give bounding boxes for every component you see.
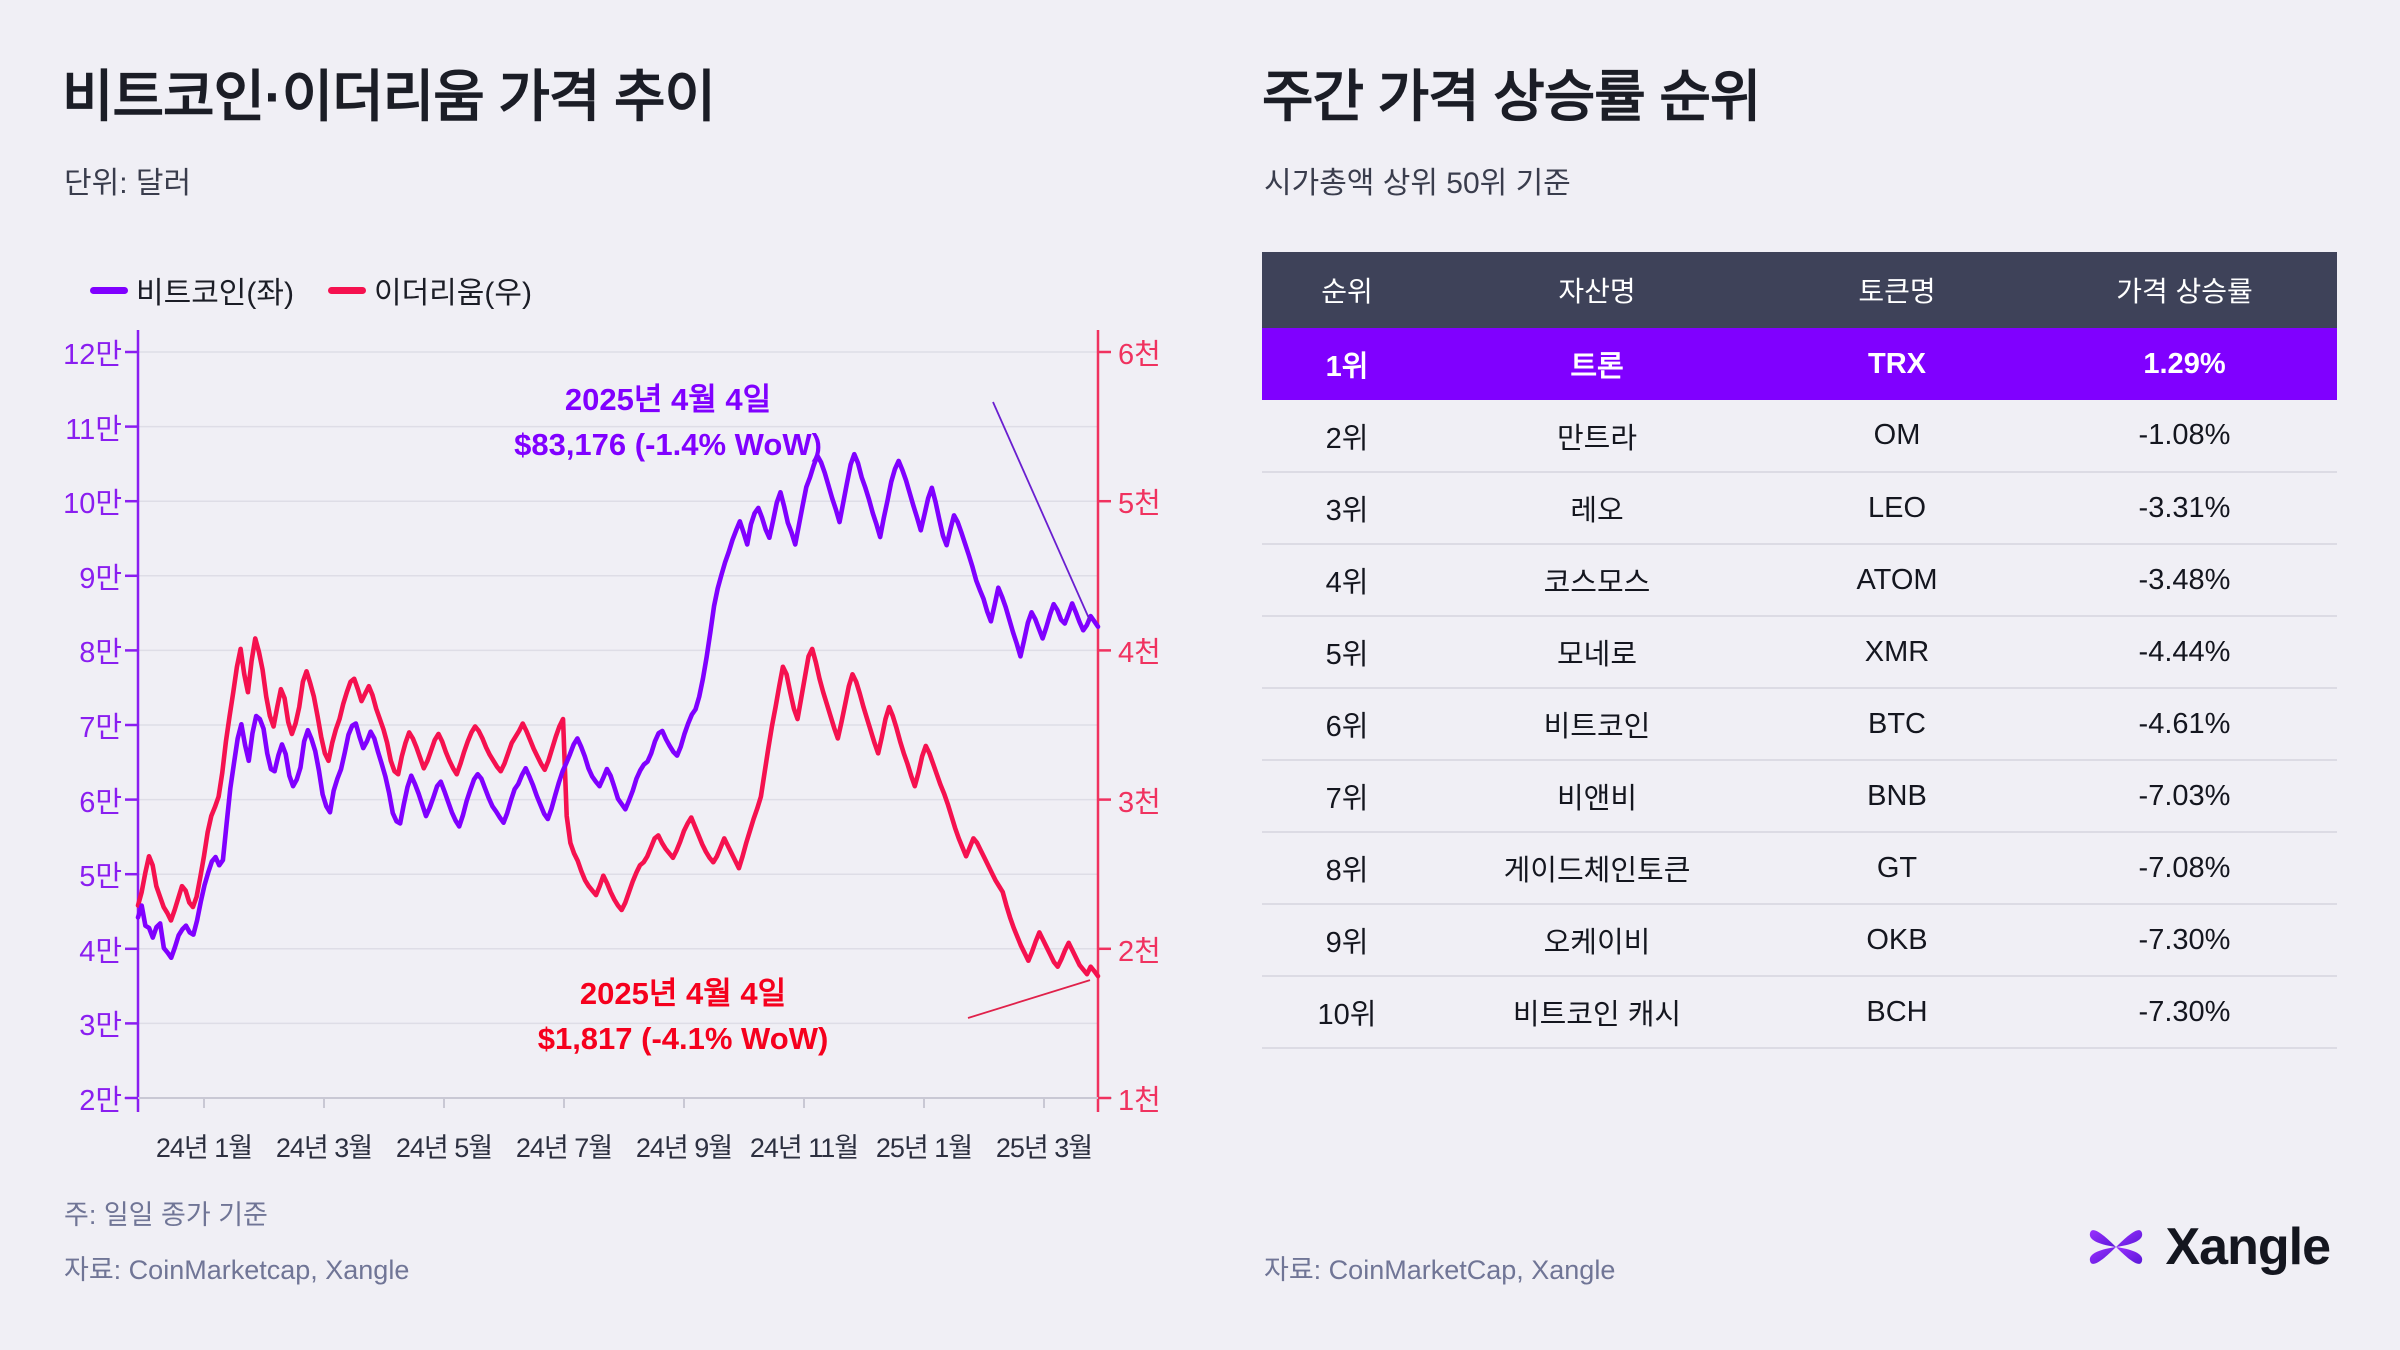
cell-asset: 비트코인 캐시 — [1432, 976, 1762, 1048]
y-tick-label-left: 10만 — [26, 480, 122, 522]
y-tick-label-left: 4만 — [26, 928, 122, 970]
ranking-panel: 주간 가격 상승률 순위 시가총액 상위 50위 기준 순위 자산명 토큰명 가… — [1200, 0, 2400, 1350]
annotation-eth-value: $1,817 (-4.1% WoW) — [538, 1021, 829, 1057]
table-row[interactable]: 8위게이드체인토큰GT-7.08% — [1262, 832, 2337, 904]
cell-asset: 모네로 — [1432, 616, 1762, 688]
table-row[interactable]: 2위만트라OM-1.08% — [1262, 400, 2337, 472]
x-tick-label: 24년 3월 — [276, 1126, 372, 1165]
annotation-btc: 2025년 4월 4일 $83,176 (-1.4% WoW) — [514, 374, 822, 463]
cell-change: -3.48% — [2032, 544, 2337, 616]
table-row[interactable]: 6위비트코인BTC-4.61% — [1262, 688, 2337, 760]
x-tick-label: 24년 9월 — [636, 1126, 732, 1165]
cell-change: -3.31% — [2032, 472, 2337, 544]
cell-rank: 6위 — [1262, 688, 1432, 760]
cell-change: -4.61% — [2032, 688, 2337, 760]
cell-rank: 10위 — [1262, 976, 1432, 1048]
xangle-logo: Xangle — [2084, 1215, 2331, 1279]
cell-rank: 1위 — [1262, 328, 1432, 400]
xangle-wordmark: Xangle — [2166, 1217, 2331, 1277]
cell-token: GT — [1762, 832, 2032, 904]
cell-rank: 5위 — [1262, 616, 1432, 688]
chart-note: 주: 일일 종가 기준 — [64, 1193, 268, 1232]
table-row[interactable]: 5위모네로XMR-4.44% — [1262, 616, 2337, 688]
cell-rank: 7위 — [1262, 760, 1432, 832]
y-tick-label-left: 11만 — [26, 406, 122, 448]
chart-source: 자료: CoinMarketcap, Xangle — [64, 1248, 409, 1287]
cell-token: BNB — [1762, 760, 2032, 832]
cell-token: LEO — [1762, 472, 2032, 544]
series-line-eth — [138, 638, 1098, 976]
cell-token: TRX — [1762, 328, 2032, 400]
table-row[interactable]: 1위트론TRX1.29% — [1262, 328, 2337, 400]
x-tick-label: 24년 5월 — [396, 1126, 492, 1165]
x-tick-label: 25년 3월 — [996, 1126, 1092, 1165]
cell-change: -7.08% — [2032, 832, 2337, 904]
cell-rank: 8위 — [1262, 832, 1432, 904]
column-header-asset: 자산명 — [1432, 252, 1762, 328]
table-header-row: 순위 자산명 토큰명 가격 상승률 — [1262, 252, 2337, 328]
ranking-source: 자료: CoinMarketCap, Xangle — [1264, 1248, 1615, 1287]
table-row[interactable]: 10위비트코인 캐시BCH-7.30% — [1262, 976, 2337, 1048]
cell-change: -7.30% — [2032, 904, 2337, 976]
cell-change: -1.08% — [2032, 400, 2337, 472]
cell-asset: 만트라 — [1432, 400, 1762, 472]
cell-change: -7.30% — [2032, 976, 2337, 1048]
table-row[interactable]: 3위레오LEO-3.31% — [1262, 472, 2337, 544]
y-tick-label-left: 5만 — [26, 853, 122, 895]
y-tick-label-left: 12만 — [26, 331, 122, 373]
column-header-change: 가격 상승률 — [2032, 252, 2337, 328]
cell-asset: 비앤비 — [1432, 760, 1762, 832]
table-row[interactable]: 7위비앤비BNB-7.03% — [1262, 760, 2337, 832]
chart-plot-area: 12만11만10만9만8만7만6만5만4만3만2만 6천5천4천3천2천1천 2… — [0, 0, 1200, 1200]
price-chart-panel: 비트코인·이더리움 가격 추이 단위: 달러 비트코인(좌) 이더리움(우) 1… — [0, 0, 1200, 1350]
chart-svg — [0, 0, 1200, 1250]
cell-token: BTC — [1762, 688, 2032, 760]
cell-token: XMR — [1762, 616, 2032, 688]
cell-rank: 2위 — [1262, 400, 1432, 472]
annotation-leader-btc — [993, 402, 1090, 621]
ranking-title: 주간 가격 상승률 순위 — [1262, 52, 1760, 133]
x-tick-label: 24년 1월 — [156, 1126, 252, 1165]
cell-asset: 트론 — [1432, 328, 1762, 400]
cell-rank: 9위 — [1262, 904, 1432, 976]
y-tick-label-left: 6만 — [26, 779, 122, 821]
y-tick-label-left: 2만 — [26, 1077, 122, 1119]
ranking-table-head: 순위 자산명 토큰명 가격 상승률 — [1262, 252, 2337, 328]
cell-asset: 게이드체인토큰 — [1432, 832, 1762, 904]
cell-rank: 4위 — [1262, 544, 1432, 616]
table-row[interactable]: 4위코스모스ATOM-3.48% — [1262, 544, 2337, 616]
x-tick-label: 24년 11월 — [750, 1126, 858, 1165]
y-tick-label-left: 3만 — [26, 1002, 122, 1044]
cell-rank: 3위 — [1262, 472, 1432, 544]
column-header-rank: 순위 — [1262, 252, 1432, 328]
y-tick-label-left: 7만 — [26, 704, 122, 746]
y-tick-label-left: 8만 — [26, 629, 122, 671]
ranking-table: 순위 자산명 토큰명 가격 상승률 1위트론TRX1.29%2위만트라OM-1.… — [1262, 252, 2337, 1049]
ranking-table-body: 1위트론TRX1.29%2위만트라OM-1.08%3위레오LEO-3.31%4위… — [1262, 328, 2337, 1048]
x-tick-label: 24년 7월 — [516, 1126, 612, 1165]
cell-asset: 오케이비 — [1432, 904, 1762, 976]
cell-asset: 레오 — [1432, 472, 1762, 544]
infographic-root: 비트코인·이더리움 가격 추이 단위: 달러 비트코인(좌) 이더리움(우) 1… — [0, 0, 2400, 1350]
cell-asset: 비트코인 — [1432, 688, 1762, 760]
annotation-btc-date: 2025년 4월 4일 — [565, 382, 771, 417]
annotation-leader-eth — [968, 980, 1090, 1018]
annotation-eth-date: 2025년 4월 4일 — [580, 976, 786, 1011]
cell-change: -7.03% — [2032, 760, 2337, 832]
cell-token: OKB — [1762, 904, 2032, 976]
y-tick-label-left: 9만 — [26, 555, 122, 597]
cell-token: ATOM — [1762, 544, 2032, 616]
cell-token: BCH — [1762, 976, 2032, 1048]
cell-change: -4.44% — [2032, 616, 2337, 688]
series-line-btc — [138, 454, 1098, 958]
annotation-btc-value: $83,176 (-1.4% WoW) — [514, 427, 822, 463]
xangle-mark-icon — [2084, 1215, 2148, 1279]
cell-token: OM — [1762, 400, 2032, 472]
cell-change: 1.29% — [2032, 328, 2337, 400]
column-header-token: 토큰명 — [1762, 252, 2032, 328]
ranking-subtitle: 시가총액 상위 50위 기준 — [1264, 158, 1571, 202]
cell-asset: 코스모스 — [1432, 544, 1762, 616]
x-tick-label: 25년 1월 — [876, 1126, 972, 1165]
annotation-eth: 2025년 4월 4일 $1,817 (-4.1% WoW) — [538, 968, 829, 1057]
table-row[interactable]: 9위오케이비OKB-7.30% — [1262, 904, 2337, 976]
